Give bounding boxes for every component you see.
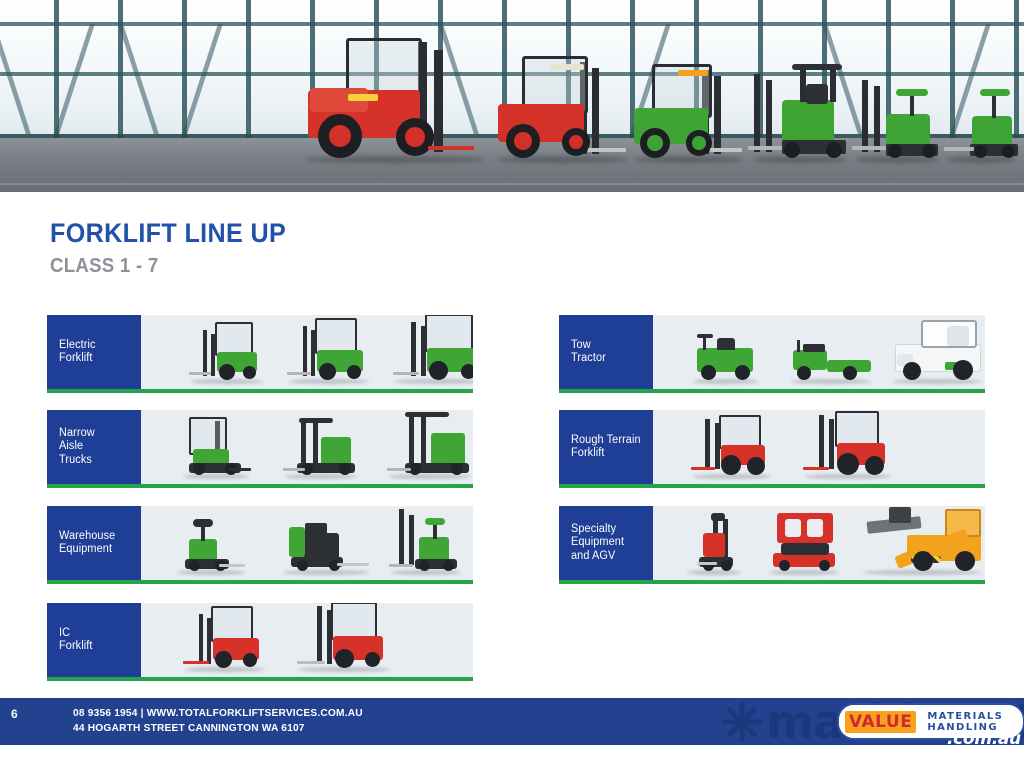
category-label-narrow-aisle-trucks: Narrow Aisle Trucks (47, 410, 141, 484)
machine-rough-terrain-forklift (691, 413, 775, 475)
label-line: Rough Terrain (571, 434, 649, 448)
machine-reach-truck (283, 413, 361, 475)
row-accent-bar (47, 580, 473, 584)
category-label-rough-terrain-forklift: Rough Terrain Forklift (559, 410, 653, 484)
machine-ic-counterbalance (183, 606, 269, 668)
label-line: Aisle (59, 440, 137, 454)
footer-address: 44 HOGARTH STREET CANNINGTON WA 6107 (73, 721, 363, 736)
category-row-warehouse-equipment[interactable]: Warehouse Equipment (47, 506, 473, 584)
slide-page: FORKLIFT LINE UP CLASS 1 - 7 Electric Fo… (0, 0, 1024, 768)
row-accent-bar (559, 484, 985, 488)
machine-heavy-tow-tractor (891, 320, 985, 380)
machine-agv-stacker (685, 507, 745, 571)
machine-pallet-truck (175, 513, 249, 571)
label-line: Equipment (59, 543, 137, 557)
badge-value-block: VALUE (839, 705, 922, 738)
label-line: Trucks (59, 454, 137, 468)
category-panel-warehouse-equipment (141, 506, 473, 580)
machine-order-picker-low-level (281, 513, 373, 571)
label-line: Warehouse (59, 530, 137, 544)
machine-vna-turret-truck (387, 410, 473, 475)
badge-domain-text: .com.au (947, 729, 1021, 749)
category-label-specialty-equipment-and-agv: Specialty Equipment and AGV (559, 506, 653, 580)
label-line: Forklift (59, 640, 137, 654)
category-panel-ic-forklift (141, 603, 473, 677)
machine-walkie-stacker (389, 506, 465, 571)
row-accent-bar (559, 389, 985, 393)
row-accent-bar (47, 677, 473, 681)
label-line: Electric (59, 339, 137, 353)
category-row-specialty-equipment-and-agv[interactable]: Specialty Equipment and AGV (559, 506, 985, 584)
category-label-warehouse-equipment: Warehouse Equipment (47, 506, 141, 580)
machine-scissor-lift (767, 509, 843, 571)
category-row-rough-terrain-forklift[interactable]: Rough Terrain Forklift (559, 410, 985, 488)
category-panel-electric-forklift (141, 315, 473, 389)
footer-phone-website: 08 9356 1954 | WWW.TOTALFORKLIFTSERVICES… (73, 706, 363, 721)
machine-counterbalance-4wheel (287, 318, 373, 380)
label-line: Forklift (59, 352, 137, 366)
row-accent-bar (47, 484, 473, 488)
machine-ic-counterbalance-large (297, 603, 393, 668)
machine-counterbalance-3wheel (189, 322, 267, 380)
machine-counterbalance-large (393, 315, 473, 380)
category-grid: Electric Forklift (0, 0, 1024, 768)
machine-tow-tractor-ride-on (691, 328, 763, 380)
footer-contact: 08 9356 1954 | WWW.TOTALFORKLIFTSERVICES… (73, 706, 372, 736)
category-panel-specialty-equipment-and-agv (653, 506, 985, 580)
category-panel-tow-tractor (653, 315, 985, 389)
category-row-electric-forklift[interactable]: Electric Forklift (47, 315, 473, 393)
row-accent-bar (559, 580, 985, 584)
category-row-narrow-aisle-trucks[interactable]: Narrow Aisle Trucks (47, 410, 473, 488)
label-line: Equipment (571, 536, 649, 550)
label-line: Narrow (59, 427, 137, 441)
label-line: IC (59, 627, 137, 641)
page-number: 6 (11, 707, 18, 721)
category-panel-narrow-aisle-trucks (141, 410, 473, 484)
category-row-ic-forklift[interactable]: IC Forklift (47, 603, 473, 681)
label-line: Specialty (571, 523, 649, 537)
label-line: Forklift (571, 447, 649, 461)
asterisk-icon (722, 702, 762, 742)
category-label-electric-forklift: Electric Forklift (47, 315, 141, 389)
label-line: and AGV (571, 550, 649, 564)
machine-rough-terrain-forklift-large (803, 410, 895, 475)
badge-value-text: VALUE (845, 711, 916, 733)
category-label-tow-tractor: Tow Tractor (559, 315, 653, 389)
label-line: Tractor (571, 352, 649, 366)
category-panel-rough-terrain-forklift (653, 410, 985, 484)
machine-reach-stacker (859, 506, 985, 571)
category-label-ic-forklift: IC Forklift (47, 603, 141, 677)
badge-line-materials: MATERIALS (927, 711, 1023, 722)
category-row-tow-tractor[interactable]: Tow Tractor (559, 315, 985, 393)
label-line: Tow (571, 339, 649, 353)
machine-platform-tractor (789, 334, 875, 380)
machine-order-picker (181, 415, 253, 475)
row-accent-bar (47, 389, 473, 393)
